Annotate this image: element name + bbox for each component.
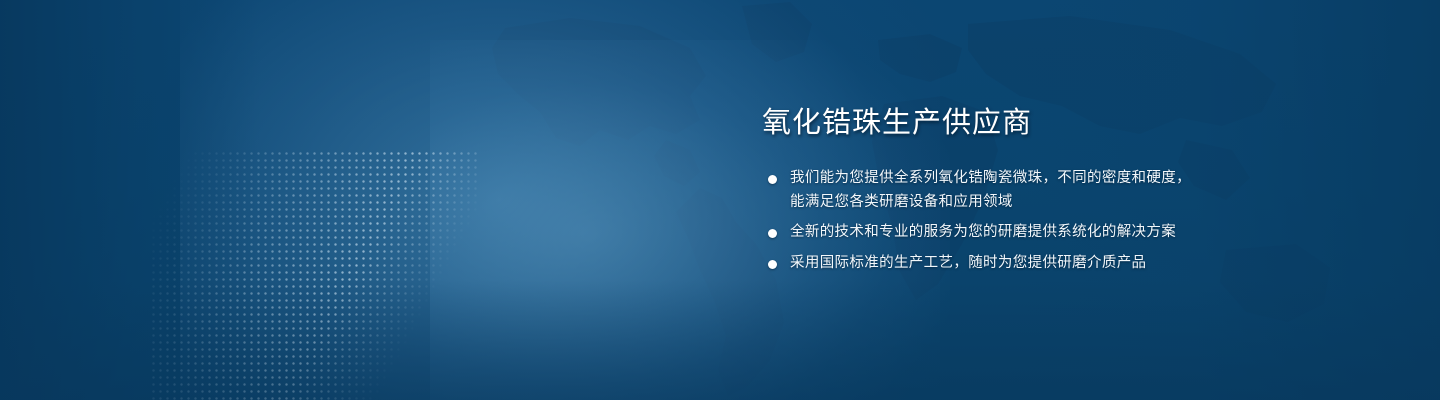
hero-banner: 氧化锆珠生产供应商 我们能为您提供全系列氧化锆陶瓷微珠，不同的密度和硬度， 能满…	[0, 0, 1440, 400]
bullet-dot-icon	[768, 229, 777, 238]
feature-list-item: 全新的技术和专业的服务为您的研磨提供系统化的解决方案	[762, 221, 1362, 245]
feature-text-line: 我们能为您提供全系列氧化锆陶瓷微珠，不同的密度和硬度，	[790, 167, 1362, 191]
feature-text-line: 全新的技术和专业的服务为您的研磨提供系统化的解决方案	[790, 221, 1362, 245]
bottom-vignette	[0, 280, 1440, 400]
feature-list-item: 采用国际标准的生产工艺，随时为您提供研磨介质产品	[762, 252, 1362, 276]
bullet-dot-icon	[768, 260, 777, 269]
feature-text-line: 能满足您各类研磨设备和应用领域	[790, 191, 1362, 215]
banner-copy: 氧化锆珠生产供应商 我们能为您提供全系列氧化锆陶瓷微珠，不同的密度和硬度， 能满…	[762, 104, 1362, 275]
feature-list-item: 我们能为您提供全系列氧化锆陶瓷微珠，不同的密度和硬度， 能满足您各类研磨设备和应…	[762, 167, 1362, 214]
banner-headline: 氧化锆珠生产供应商	[762, 104, 1362, 142]
feature-list: 我们能为您提供全系列氧化锆陶瓷微珠，不同的密度和硬度， 能满足您各类研磨设备和应…	[762, 167, 1362, 275]
bullet-dot-icon	[768, 175, 777, 184]
feature-text-line: 采用国际标准的生产工艺，随时为您提供研磨介质产品	[790, 252, 1362, 276]
